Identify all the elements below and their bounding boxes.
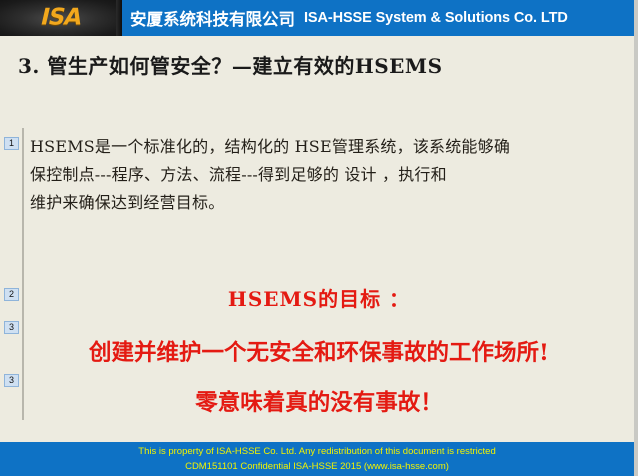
footer-document-line: CDM151101 Confidential ISA-HSSE 2015 (ww… xyxy=(185,459,449,474)
header-title-bar: 安厦系统科技有限公司 ISA-HSSE System & Solutions C… xyxy=(122,0,638,36)
slide-footer: This is property of ISA-HSSE Co. Ltd. An… xyxy=(0,442,634,476)
slide-header: ISA 安厦系统科技有限公司 ISA-HSSE System & Solutio… xyxy=(0,0,638,36)
isa-logo-text: ISA xyxy=(38,7,83,30)
body-line: 保控制点---程序、方法、流程---得到足够的 设计 ，执行和 xyxy=(30,161,626,189)
slide-title: 3. 管生产如何管安全？—建立有效的HSEMS xyxy=(18,50,443,79)
body-line: 维护来确保达到经营目标。 xyxy=(30,189,626,217)
goal-heading: HSEMS的目标 ： xyxy=(0,283,638,312)
presentation-slide: ISA 安厦系统科技有限公司 ISA-HSSE System & Solutio… xyxy=(0,0,638,476)
body-line: HSEMS是一个标准化的，结构化的 HSE管理系统，该系统能够确 xyxy=(30,133,626,161)
isa-logo-icon: ISA xyxy=(0,0,122,36)
body-paragraph: HSEMS是一个标准化的，结构化的 HSE管理系统，该系统能够确 保控制点---… xyxy=(30,133,626,217)
company-name-cn: 安厦系统科技有限公司 xyxy=(130,6,295,30)
animation-order-marker[interactable]: 1 xyxy=(4,137,19,150)
footer-copyright-line: This is property of ISA-HSSE Co. Ltd. An… xyxy=(138,444,495,459)
goal-statement-secondary: 零意味着真的没有事故！ xyxy=(0,385,638,417)
goal-statement-primary: 创建并维护一个无安全和环保事故的工作场所! xyxy=(0,335,638,367)
company-name-en: ISA-HSSE System & Solutions Co. LTD xyxy=(304,10,568,26)
left-divider-rule xyxy=(22,128,24,420)
animation-order-marker[interactable]: 3 xyxy=(4,321,19,334)
